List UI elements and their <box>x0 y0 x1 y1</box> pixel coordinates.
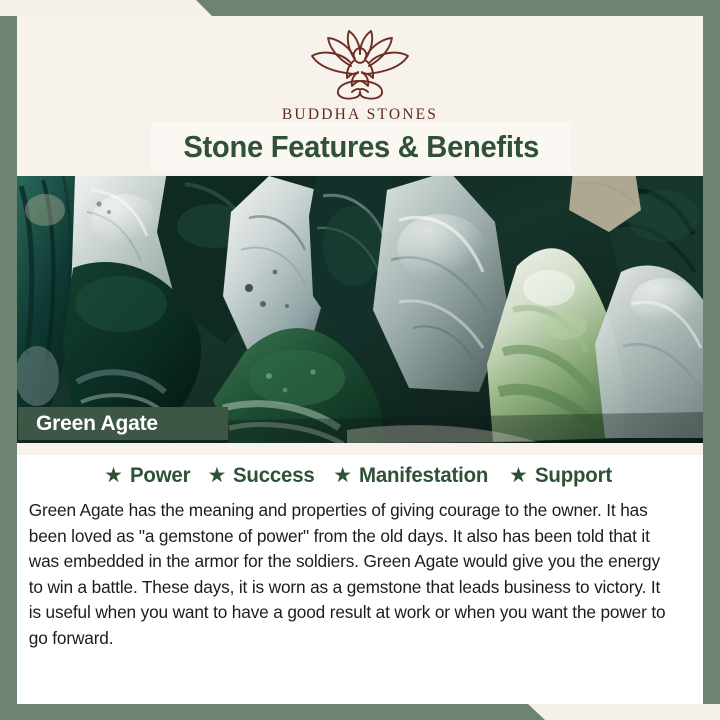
star-icon: ★ <box>104 465 123 486</box>
header-section: BUDDHA STONES Stone Features & Benefits <box>17 16 703 176</box>
stone-features-infographic: BUDDHA STONES Stone Features & Benefits <box>0 0 720 720</box>
benefit-label: Manifestation <box>359 463 488 488</box>
stone-description: Green Agate has the meaning and properti… <box>17 492 689 651</box>
stone-photo: Green Agate <box>17 176 703 443</box>
lotus-meditation-icon <box>296 28 424 102</box>
frame-left-rail <box>0 16 17 704</box>
benefits-row: ★ Power ★ Success ★ Manifestation ★ Supp… <box>17 455 703 492</box>
body-section: ★ Power ★ Success ★ Manifestation ★ Supp… <box>17 443 703 704</box>
stone-name: Green Agate <box>36 412 158 436</box>
cream-divider-strip <box>17 443 703 455</box>
brand-logo: BUDDHA STONES <box>17 28 703 124</box>
frame-right-rail <box>703 16 720 704</box>
green-agate-stones-illustration <box>17 176 703 443</box>
star-icon: ★ <box>333 465 352 486</box>
frame-top-left-cream <box>0 0 214 16</box>
benefit-manifestation: ★ Manifestation <box>333 463 495 488</box>
benefit-success: ★ Success <box>208 463 320 488</box>
benefit-support: ★ Support <box>509 463 616 488</box>
page-title-plate: Stone Features & Benefits <box>151 122 571 172</box>
benefit-label: Power <box>130 463 190 488</box>
benefit-label: Success <box>233 463 315 488</box>
page-title: Stone Features & Benefits <box>183 129 539 165</box>
stone-name-badge: Green Agate <box>18 407 228 440</box>
star-icon: ★ <box>509 465 528 486</box>
benefit-label: Support <box>535 463 612 488</box>
benefit-power: ★ Power <box>104 463 193 488</box>
content-card: BUDDHA STONES Stone Features & Benefits <box>17 16 703 704</box>
frame-bottom-right-cream <box>525 704 720 720</box>
star-icon: ★ <box>208 465 227 486</box>
